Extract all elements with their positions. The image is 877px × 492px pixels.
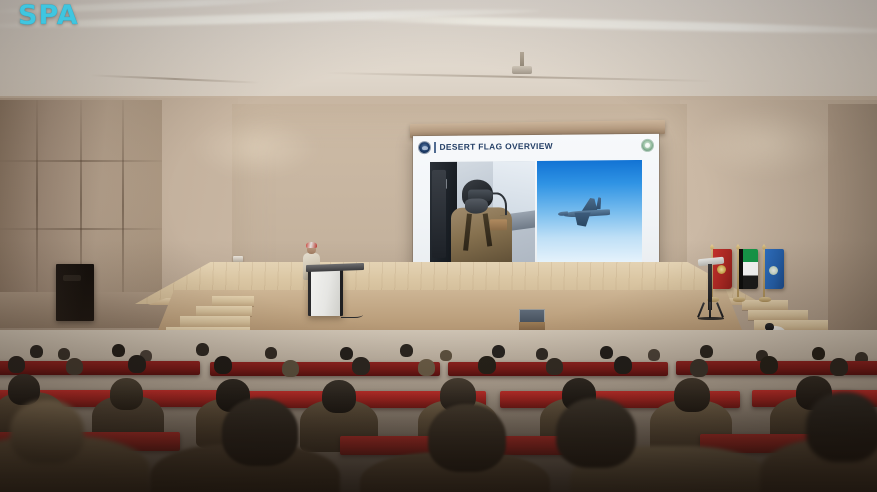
- tripod-base: [698, 317, 724, 320]
- projection-screen: DESERT FLAG OVERVIEW: [413, 134, 659, 283]
- oxygen-mask: [465, 199, 488, 214]
- audience-head: [352, 357, 370, 375]
- camera-tripod: [696, 258, 726, 320]
- flight-vest-patch: [490, 220, 507, 231]
- foreground-shadow: [0, 388, 877, 492]
- audience-head: [700, 345, 713, 358]
- audience-head: [614, 356, 632, 374]
- tripod-leg: [716, 302, 724, 318]
- audience-head: [128, 355, 146, 373]
- wall-light-pool: [690, 108, 840, 178]
- audience-head: [648, 349, 660, 361]
- audience-head: [760, 356, 778, 374]
- audience-head: [30, 345, 43, 358]
- presenter-headdress: [306, 242, 317, 248]
- spa-watermark-logo: SPA: [18, 2, 79, 29]
- audience-head: [8, 356, 25, 373]
- audience-head: [492, 345, 505, 358]
- tripod-leg: [709, 302, 711, 318]
- audience-head: [812, 347, 825, 360]
- seat-row[interactable]: [0, 361, 200, 375]
- blue-organization-flag: [764, 249, 784, 289]
- fighter-pilot-cockpit-photo: [430, 161, 535, 266]
- presentation-slide: DESERT FLAG OVERVIEW: [413, 134, 659, 283]
- auditorium-scene: DESERT FLAG OVERVIEW: [0, 0, 877, 492]
- audience-head: [58, 348, 70, 360]
- slide-title: DESERT FLAG OVERVIEW: [440, 142, 553, 151]
- ejection-seat: [432, 170, 446, 257]
- title-divider: [434, 142, 436, 153]
- audience-head: [546, 358, 563, 375]
- podium-cable: [341, 310, 363, 318]
- stage-step: [748, 310, 808, 320]
- panel-seam: [0, 160, 162, 162]
- stage-step: [212, 296, 254, 306]
- flag-cloth: [739, 249, 758, 289]
- uae-air-force-emblem-logo: [642, 140, 653, 151]
- speaker-podium: [308, 268, 343, 316]
- audience-head: [196, 343, 209, 356]
- audience-head: [214, 356, 232, 374]
- audience-head: [400, 344, 413, 357]
- slide-header: DESERT FLAG OVERVIEW: [413, 134, 659, 159]
- audience-head: [66, 358, 83, 375]
- panel-seam: [0, 228, 162, 230]
- stage-step: [196, 306, 252, 316]
- audience-head: [112, 344, 125, 357]
- flag-base: [759, 297, 771, 302]
- ceiling-projector: [512, 66, 532, 74]
- audience-head: [265, 347, 277, 359]
- audience-head: [282, 360, 299, 377]
- audience-head: [600, 346, 613, 359]
- air-force-roundel-logo: [419, 142, 430, 153]
- pilot-torso: [451, 207, 512, 266]
- audience-head: [478, 356, 496, 374]
- tripod-leg: [697, 302, 705, 318]
- audience-head: [830, 358, 848, 376]
- audience-head: [418, 359, 435, 376]
- fighter-jet-in-flight-photo: [537, 160, 642, 265]
- slide-image-row: [430, 160, 642, 266]
- audience-head: [536, 348, 548, 360]
- seat-row[interactable]: [210, 362, 440, 376]
- fighter-jet-silhouette: [564, 202, 610, 225]
- flag-base: [733, 297, 745, 302]
- stage-step: [180, 316, 250, 327]
- audience-head: [690, 359, 708, 377]
- uae-flag: [738, 249, 758, 289]
- audience-head: [340, 347, 353, 360]
- audience-head: [440, 350, 452, 361]
- wall-light-pool: [190, 118, 320, 178]
- flag-emblem-icon: [769, 266, 778, 275]
